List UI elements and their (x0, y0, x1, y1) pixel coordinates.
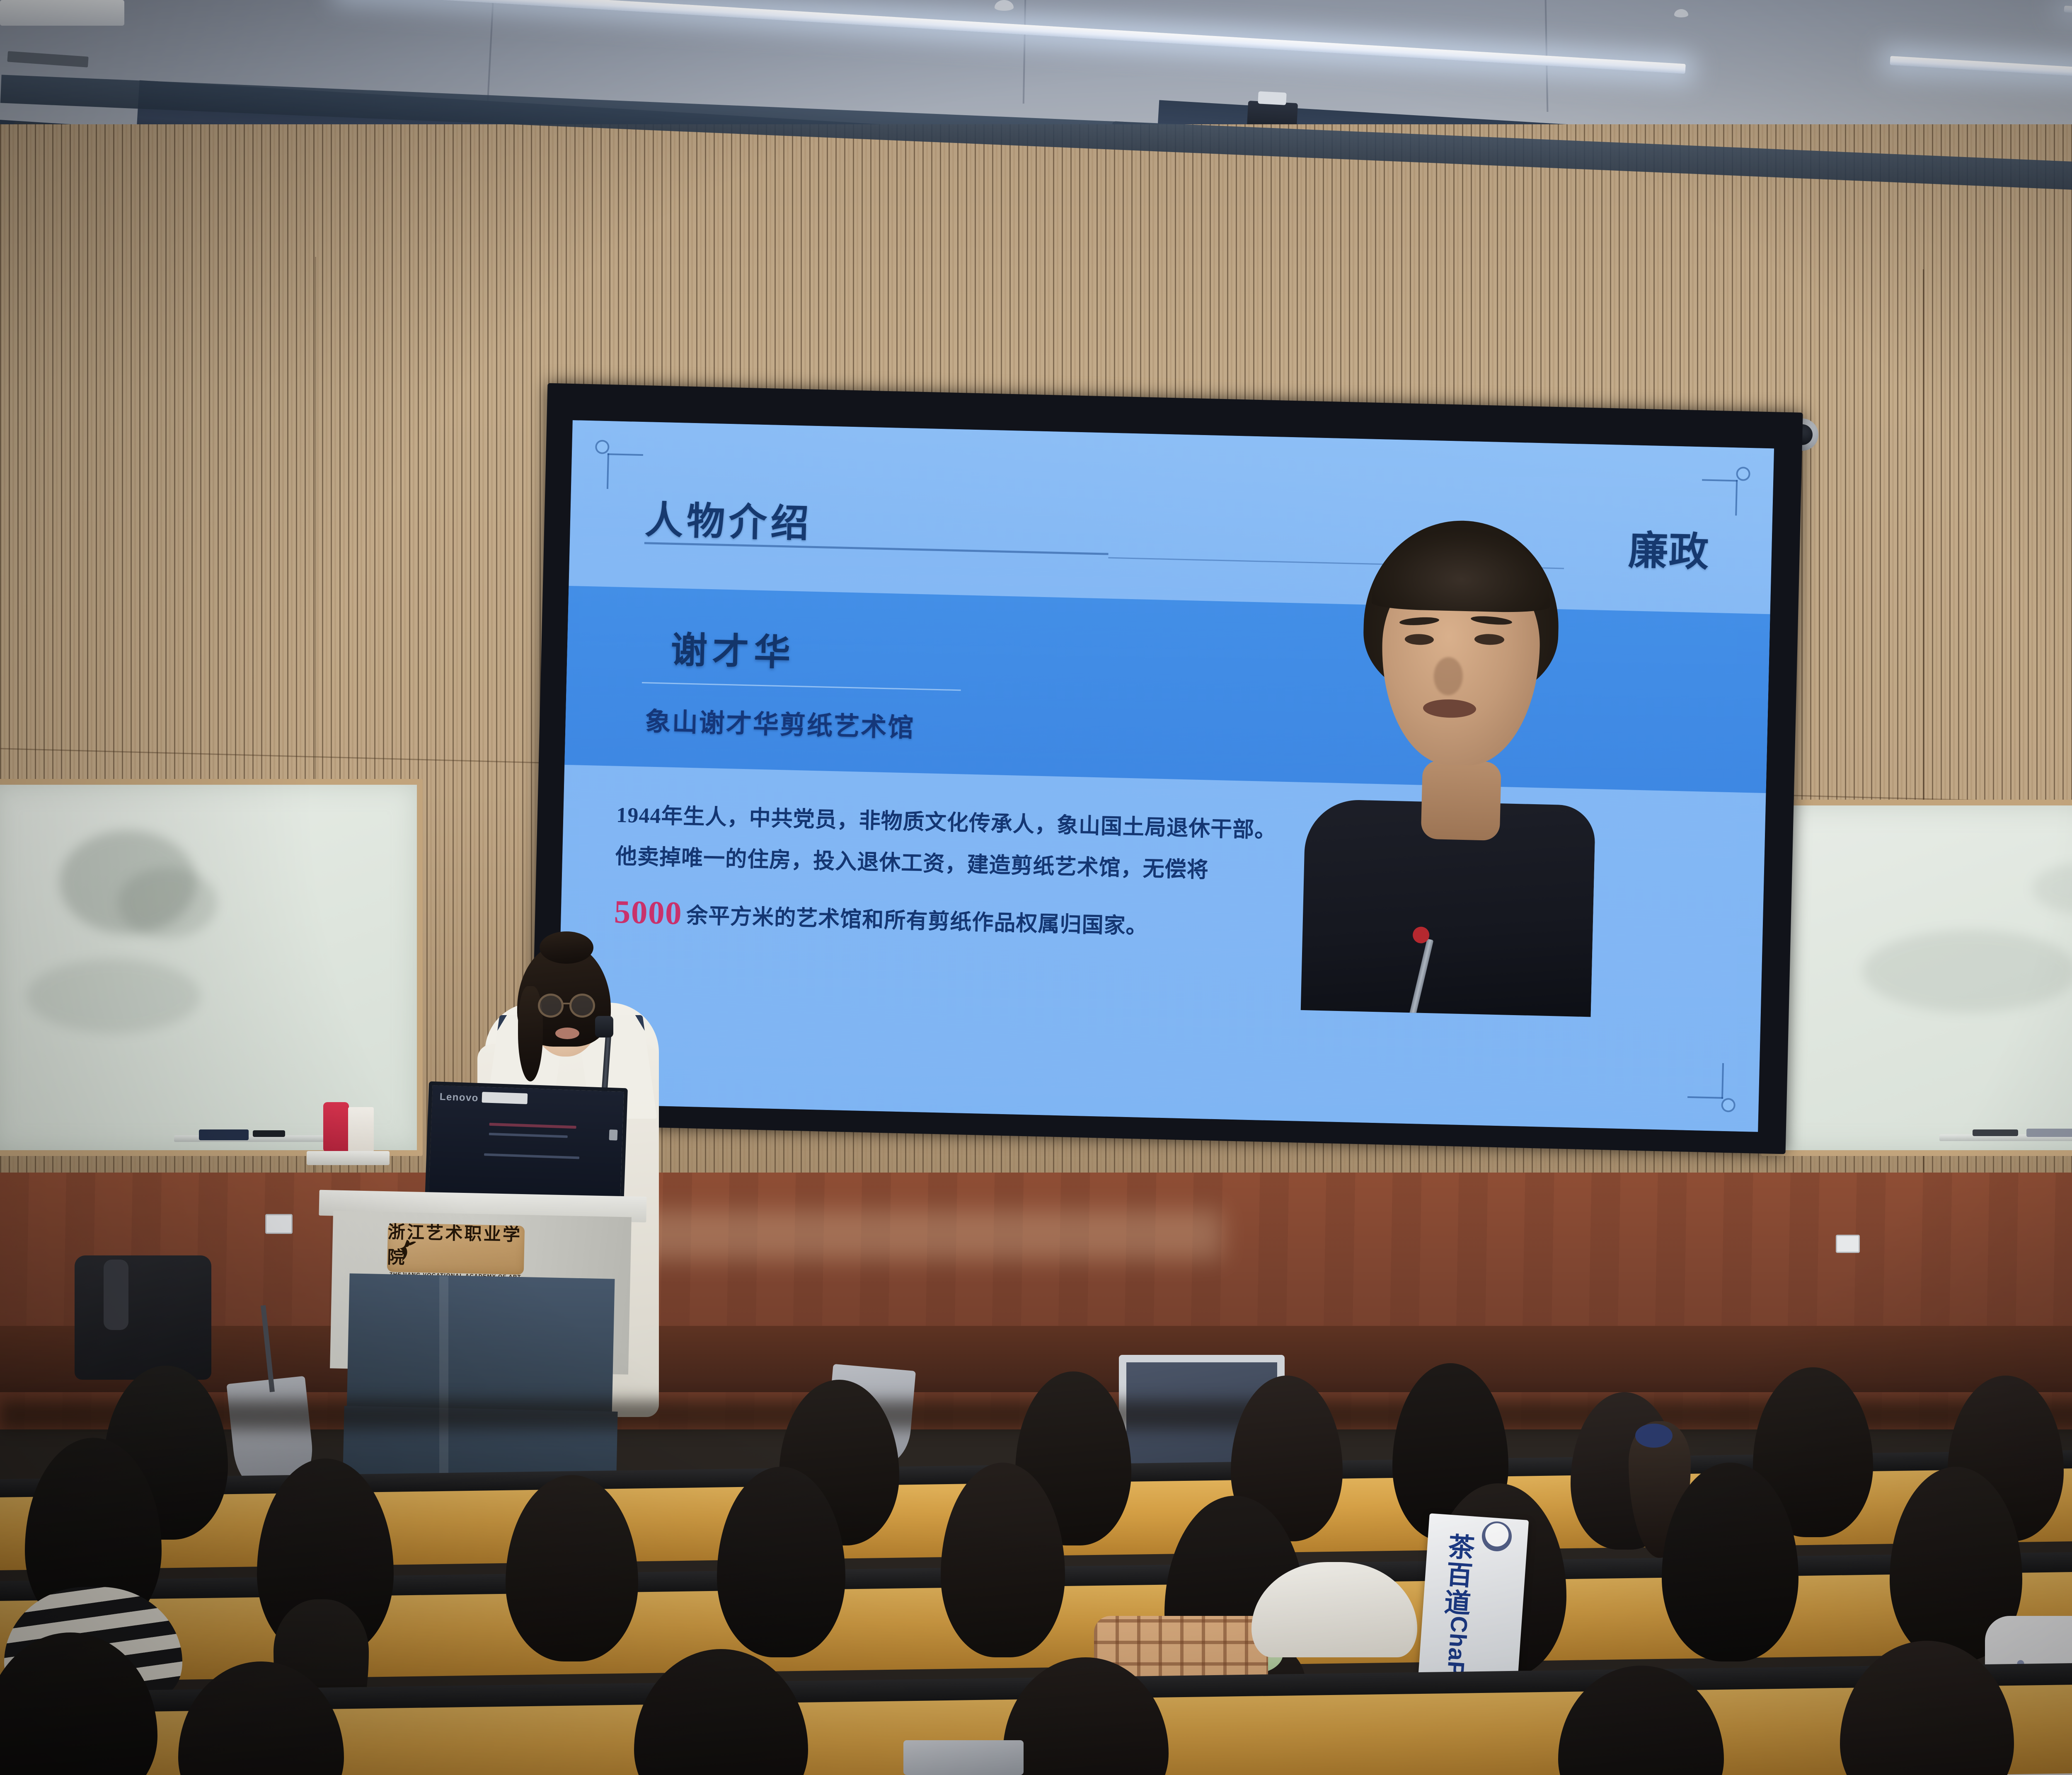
slide-corner-ornament-tl (593, 439, 644, 490)
eraser[interactable] (2026, 1129, 2072, 1137)
sprinkler-icon (1674, 9, 1688, 17)
backpack-strap (104, 1260, 128, 1330)
stage-floor-front-edge (0, 1326, 2072, 1392)
presenter-glasses-right-lens (569, 994, 595, 1018)
floor-reflection (601, 1210, 1222, 1260)
podium-microphone-head (595, 1016, 613, 1037)
tissue-pack[interactable] (348, 1107, 374, 1152)
water-bottle[interactable] (323, 1102, 349, 1152)
podium-pedestal-upper (347, 1273, 615, 1420)
slide-highlight-number: 5000 (614, 894, 683, 932)
monitor-power-led (609, 1129, 618, 1141)
presenter-hair-bun (540, 931, 593, 964)
slide-corner-ornament-br (1687, 1062, 1738, 1113)
marker-right[interactable] (1973, 1129, 2018, 1136)
projection-screen: 人物介绍 廉政 谢才华 象山谢才华剪纸艺术馆 1944年生人，中共党员，非物质文… (557, 420, 1774, 1132)
presentation-slide: 人物介绍 廉政 谢才华 象山谢才华剪纸艺术馆 1944年生人，中共党员，非物质文… (557, 420, 1774, 1132)
tote-bag-chinese-label: 茶百道 (1435, 1532, 1479, 1618)
presenter-mouth (555, 1028, 579, 1039)
presenter-glasses-bridge (563, 1003, 571, 1004)
slide-title: 人物介绍 (644, 489, 813, 548)
notebook-on-desk[interactable] (903, 1740, 1024, 1775)
whiteboard-left (0, 779, 423, 1156)
hair-tie (1635, 1424, 1673, 1448)
ceiling-panel-box (0, 0, 124, 26)
side-table (307, 1151, 390, 1165)
presenter-glasses-left-lens (538, 994, 564, 1018)
backpack-on-floor[interactable] (75, 1255, 211, 1380)
slide-body-line-3-text: 余平方米的艺术馆和所有剪纸作品权属归国家。 (686, 904, 1148, 938)
slide-corner-ornament-tr (1701, 465, 1752, 516)
monitor-screen-line (484, 1153, 579, 1159)
slide-body-line-3: 5000余平方米的艺术馆和所有剪纸作品权属归国家。 (613, 880, 1149, 957)
slide-subtitle: 象山谢才华剪纸艺术馆 (645, 700, 915, 744)
slide-logo-lianzheng: 廉政 (1628, 518, 1710, 578)
phone-on-desk[interactable] (199, 1129, 249, 1140)
podium-monitor[interactable]: Lenovo (425, 1081, 628, 1209)
wall-socket-left[interactable] (265, 1214, 293, 1234)
lecture-hall-photo: 人物介绍 廉政 谢才华 象山谢才华剪纸艺术馆 1944年生人，中共党员，非物质文… (0, 0, 2072, 1775)
slide-portrait-photo (1293, 509, 1602, 1017)
monitor-brand-label: Lenovo (439, 1091, 479, 1104)
marker-black[interactable] (253, 1130, 285, 1137)
ceiling-speaker-bracket (1258, 91, 1286, 105)
monitor-asset-sticker (482, 1092, 528, 1104)
whiteboard-right (1761, 800, 2072, 1156)
slide-person-name: 谢才华 (670, 621, 796, 676)
monitor-screen-line (489, 1123, 576, 1129)
monitor-screen-line (489, 1133, 568, 1138)
wall-socket-right[interactable] (1836, 1235, 1860, 1253)
podium-plaque-dancer-icon (395, 1237, 417, 1267)
